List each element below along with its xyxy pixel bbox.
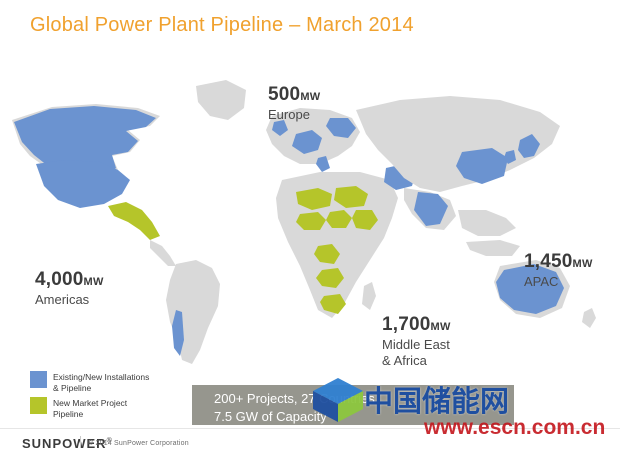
callout-europe: 500MW Europe — [268, 85, 320, 123]
callout-americas-region: Americas — [35, 292, 104, 308]
indonesia-land — [466, 240, 520, 256]
summary-banner-line2: 7.5 GW of Capacity — [214, 408, 375, 426]
callout-americas-unit: MW — [84, 276, 104, 288]
callout-apac-region: APAC — [524, 274, 593, 290]
legend-label-existing: Existing/New Installations & Pipeline — [53, 371, 149, 393]
callout-apac-unit: MW — [573, 258, 593, 270]
copyright-text: © 2014 SunPower Corporation — [88, 440, 189, 447]
callout-europe-region: Europe — [268, 107, 320, 123]
mexico-highlight — [108, 202, 160, 240]
callout-europe-unit: MW — [300, 91, 320, 103]
callout-mea-region-line2: & Africa — [382, 353, 451, 369]
callout-apac-number: 1,450 — [524, 251, 573, 272]
map-landmasses — [12, 80, 596, 364]
slide-canvas: Global Power Plant Pipeline – March 2014 — [0, 0, 620, 465]
map-legend: Existing/New Installations & Pipeline Ne… — [30, 371, 180, 424]
legend-item-existing: Existing/New Installations & Pipeline — [30, 371, 180, 393]
callout-mea-unit: MW — [431, 321, 451, 333]
legend-label-new-market-line1: New Market Project — [53, 398, 127, 409]
callout-americas-number: 4,000 — [35, 269, 84, 290]
legend-label-existing-line2: & Pipeline — [53, 383, 149, 394]
callout-americas-value: 4,000MW — [35, 270, 104, 290]
new-zealand-land — [582, 308, 596, 328]
summary-banner: 200+ Projects, 27 Countries 7.5 GW of Ca… — [192, 385, 514, 425]
callout-apac: 1,450MW APAC — [524, 252, 593, 290]
callout-mea-region: Middle East & Africa — [382, 337, 451, 368]
legend-swatch-blue — [30, 371, 47, 388]
summary-banner-text: 200+ Projects, 27 Countries 7.5 GW of Ca… — [214, 390, 375, 427]
callout-mea-value: 1,700MW — [382, 315, 451, 335]
legend-label-existing-line1: Existing/New Installations — [53, 372, 149, 383]
callout-mea-number: 1,700 — [382, 314, 431, 335]
madagascar-land — [362, 282, 376, 310]
callout-europe-number: 500 — [268, 84, 300, 105]
callout-apac-value: 1,450MW — [524, 252, 593, 272]
legend-swatch-green — [30, 397, 47, 414]
legend-label-new-market-line2: Pipeline — [53, 409, 127, 420]
legend-item-new-market: New Market Project Pipeline — [30, 397, 180, 419]
legend-label-new-market: New Market Project Pipeline — [53, 397, 127, 419]
central-america-land — [150, 240, 176, 266]
callout-middle-east-africa: 1,700MW Middle East & Africa — [382, 315, 451, 368]
footer-divider — [80, 436, 81, 448]
greenland-land — [196, 80, 246, 120]
page-title: Global Power Plant Pipeline – March 2014 — [30, 14, 414, 37]
callout-americas: 4,000MW Americas — [35, 270, 104, 308]
southeast-asia-land — [458, 210, 516, 236]
south-america-land — [166, 260, 220, 364]
callout-mea-region-line1: Middle East — [382, 337, 451, 353]
callout-europe-value: 500MW — [268, 85, 320, 105]
summary-banner-line1: 200+ Projects, 27 Countries — [214, 390, 375, 408]
